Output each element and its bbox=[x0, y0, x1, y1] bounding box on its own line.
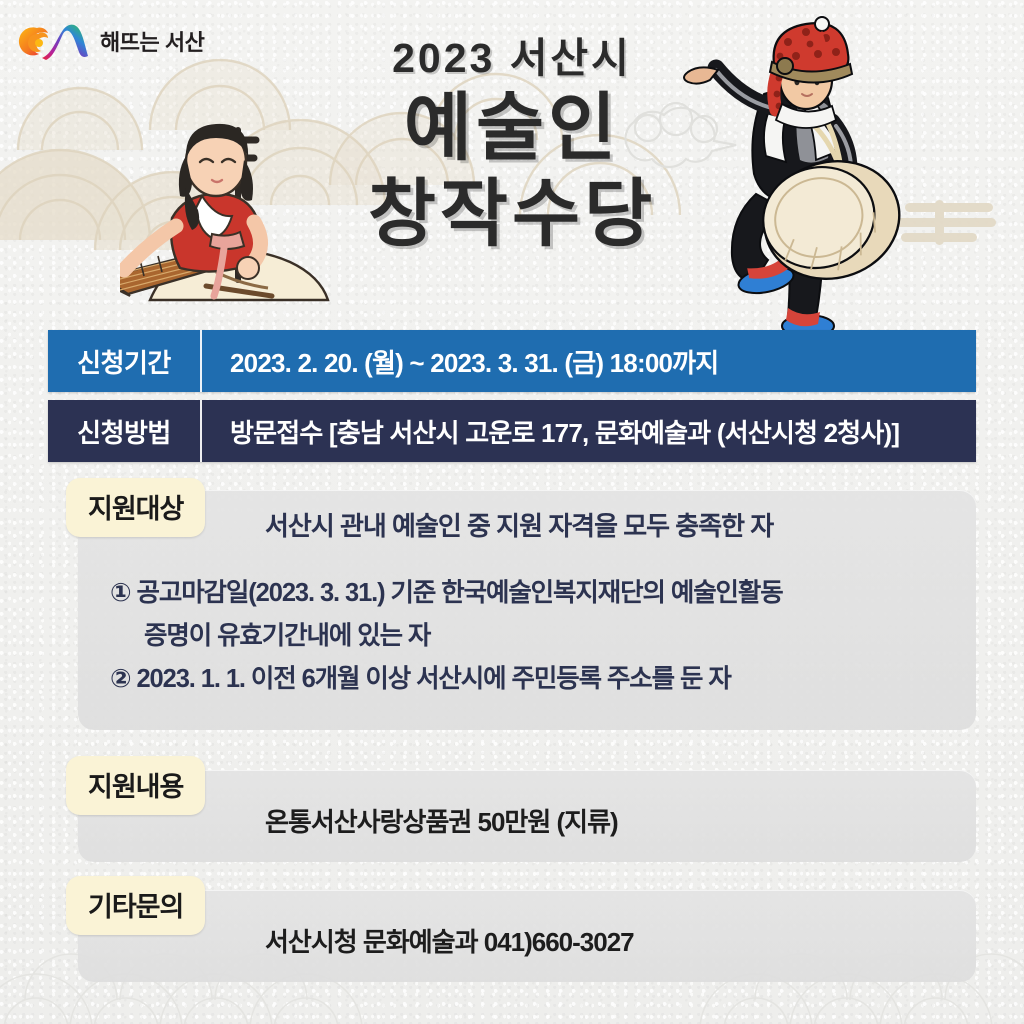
eligibility-line-2: 증명이 유효기간내에 있는 자 bbox=[110, 615, 783, 658]
seosan-city-logo-icon bbox=[18, 18, 90, 64]
site-logo: 해뜨는 서산 bbox=[18, 18, 204, 64]
row-value-application-period: 2023. 2. 20. (월) ~ 2023. 3. 31. (금) 18:0… bbox=[202, 330, 976, 392]
row-label-application-period: 신청기간 bbox=[48, 330, 202, 392]
poster-canvas: 해뜨는 서산 2023 서산시 예술인 창작수당 bbox=[0, 0, 1024, 1024]
contact-value: 서산시청 문화예술과 041)660-3027 bbox=[265, 922, 634, 959]
table-row: 신청기간 2023. 2. 20. (월) ~ 2023. 3. 31. (금)… bbox=[48, 330, 976, 392]
logo-slogan: 해뜨는 서산 bbox=[100, 25, 204, 57]
info-table: 신청기간 2023. 2. 20. (월) ~ 2023. 3. 31. (금)… bbox=[48, 330, 976, 470]
janggu-dancer-illustration bbox=[660, 8, 910, 344]
eligibility-line-3: ② 2023. 1. 1. 이전 6개월 이상 서산시에 주민등록 주소를 둔 … bbox=[110, 658, 783, 701]
row-label-application-method: 신청방법 bbox=[48, 400, 202, 462]
eligibility-pill: 지원대상 bbox=[66, 478, 205, 537]
eligibility-line-1: ① 공고마감일(2023. 3. 31.) 기준 한국예술인복지재단의 예술인활… bbox=[110, 572, 783, 615]
support-content-value: 온통서산사랑상품권 50만원 (지류) bbox=[265, 802, 618, 839]
eligibility-lead: 서산시 관내 예술인 중 지원 자격을 모두 충족한 자 bbox=[265, 506, 773, 543]
contact-pill: 기타문의 bbox=[66, 876, 205, 935]
support-content-pill: 지원내용 bbox=[66, 756, 205, 815]
gayageum-player-illustration bbox=[120, 100, 380, 320]
table-row: 신청방법 방문접수 [충남 서산시 고운로 177, 문화예술과 (서산시청 2… bbox=[48, 400, 976, 462]
row-value-application-method: 방문접수 [충남 서산시 고운로 177, 문화예술과 (서산시청 2청사)] bbox=[202, 400, 976, 462]
